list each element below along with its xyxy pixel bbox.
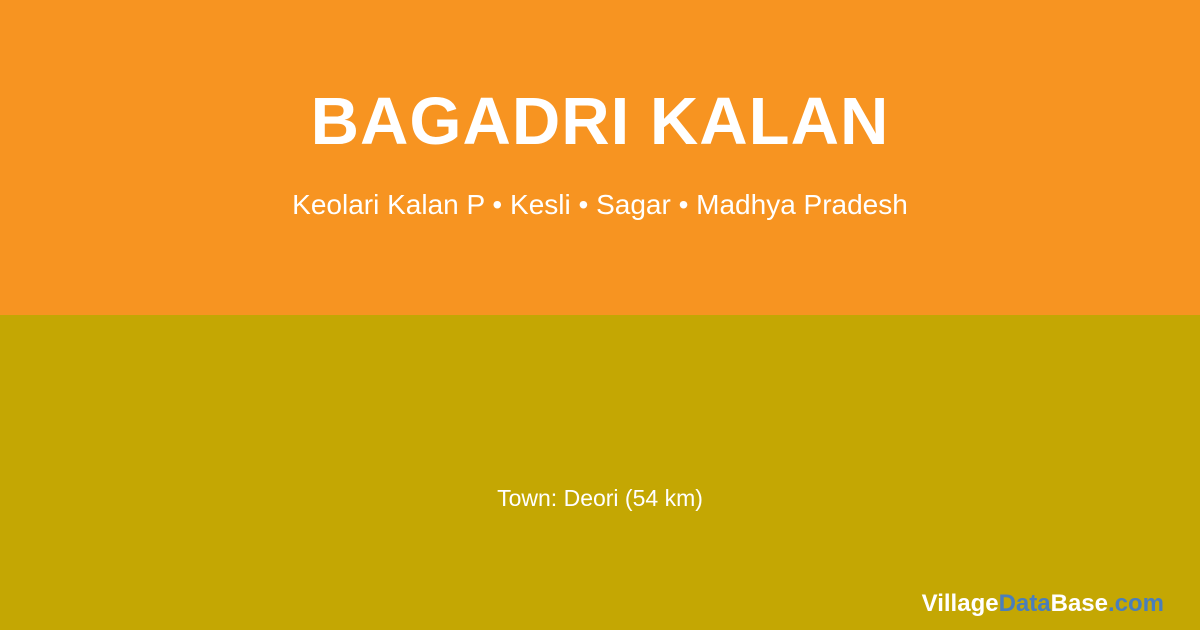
brand-part-data: Data [999,590,1051,617]
location-breadcrumb: Keolari Kalan P • Kesli • Sagar • Madhya… [292,188,908,222]
card-body: Town: Deori (54 km) [0,315,1200,630]
site-watermark: VillageDataBase.com [922,590,1164,618]
brand-part-com: .com [1108,590,1164,617]
card-header: BAGADRI KALAN Keolari Kalan P • Kesli • … [0,0,1200,315]
page-title: BAGADRI KALAN [311,88,890,155]
brand-part-base: Base [1051,590,1108,617]
brand-part-village: Village [922,590,999,617]
nearest-town-label: Town: Deori (54 km) [0,485,1200,512]
village-info-card: BAGADRI KALAN Keolari Kalan P • Kesli • … [0,0,1200,630]
